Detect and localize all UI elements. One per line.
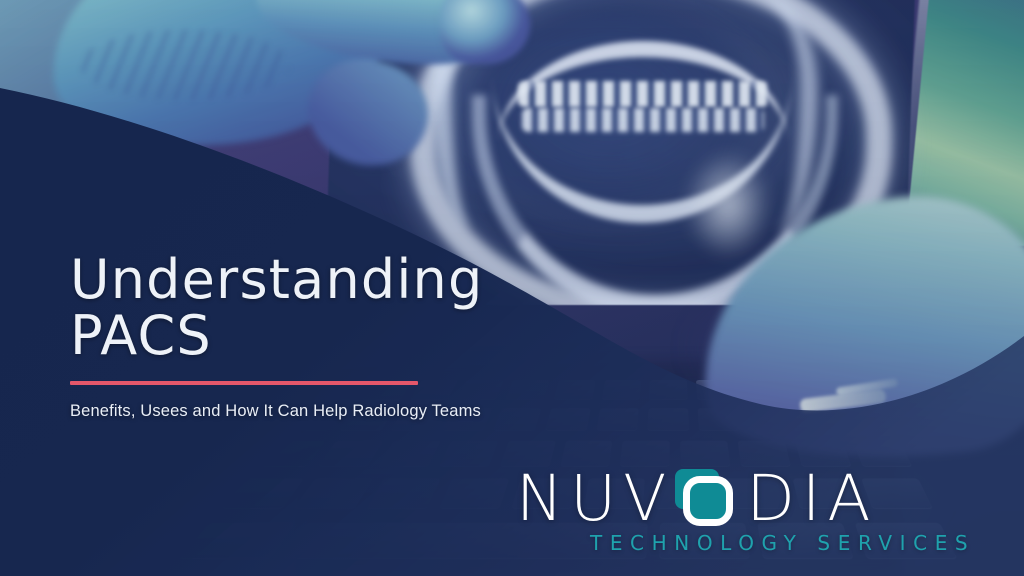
title-line-2: PACS	[70, 308, 690, 364]
logo-wordmark: NUV DIA	[516, 468, 986, 528]
logo-text-dia: DIA	[746, 467, 877, 530]
title-underline-rule	[70, 381, 418, 385]
title-block: Understanding PACS Benefits, Usees and H…	[70, 252, 690, 421]
page-title: Understanding PACS	[70, 252, 690, 364]
logo-o-icon	[675, 469, 737, 527]
logo-tagline: TECHNOLOGY SERVICES	[516, 531, 986, 555]
title-line-1: Understanding	[70, 248, 483, 311]
logo-o-ring	[683, 476, 733, 526]
title-slide: Understanding PACS Benefits, Usees and H…	[0, 0, 1024, 576]
nuvodia-logo: NUV DIA TECHNOLOGY SERVICES	[516, 468, 986, 555]
slide-subtitle: Benefits, Usees and How It Can Help Radi…	[70, 402, 690, 421]
logo-text-nuv: NUV	[516, 467, 673, 530]
